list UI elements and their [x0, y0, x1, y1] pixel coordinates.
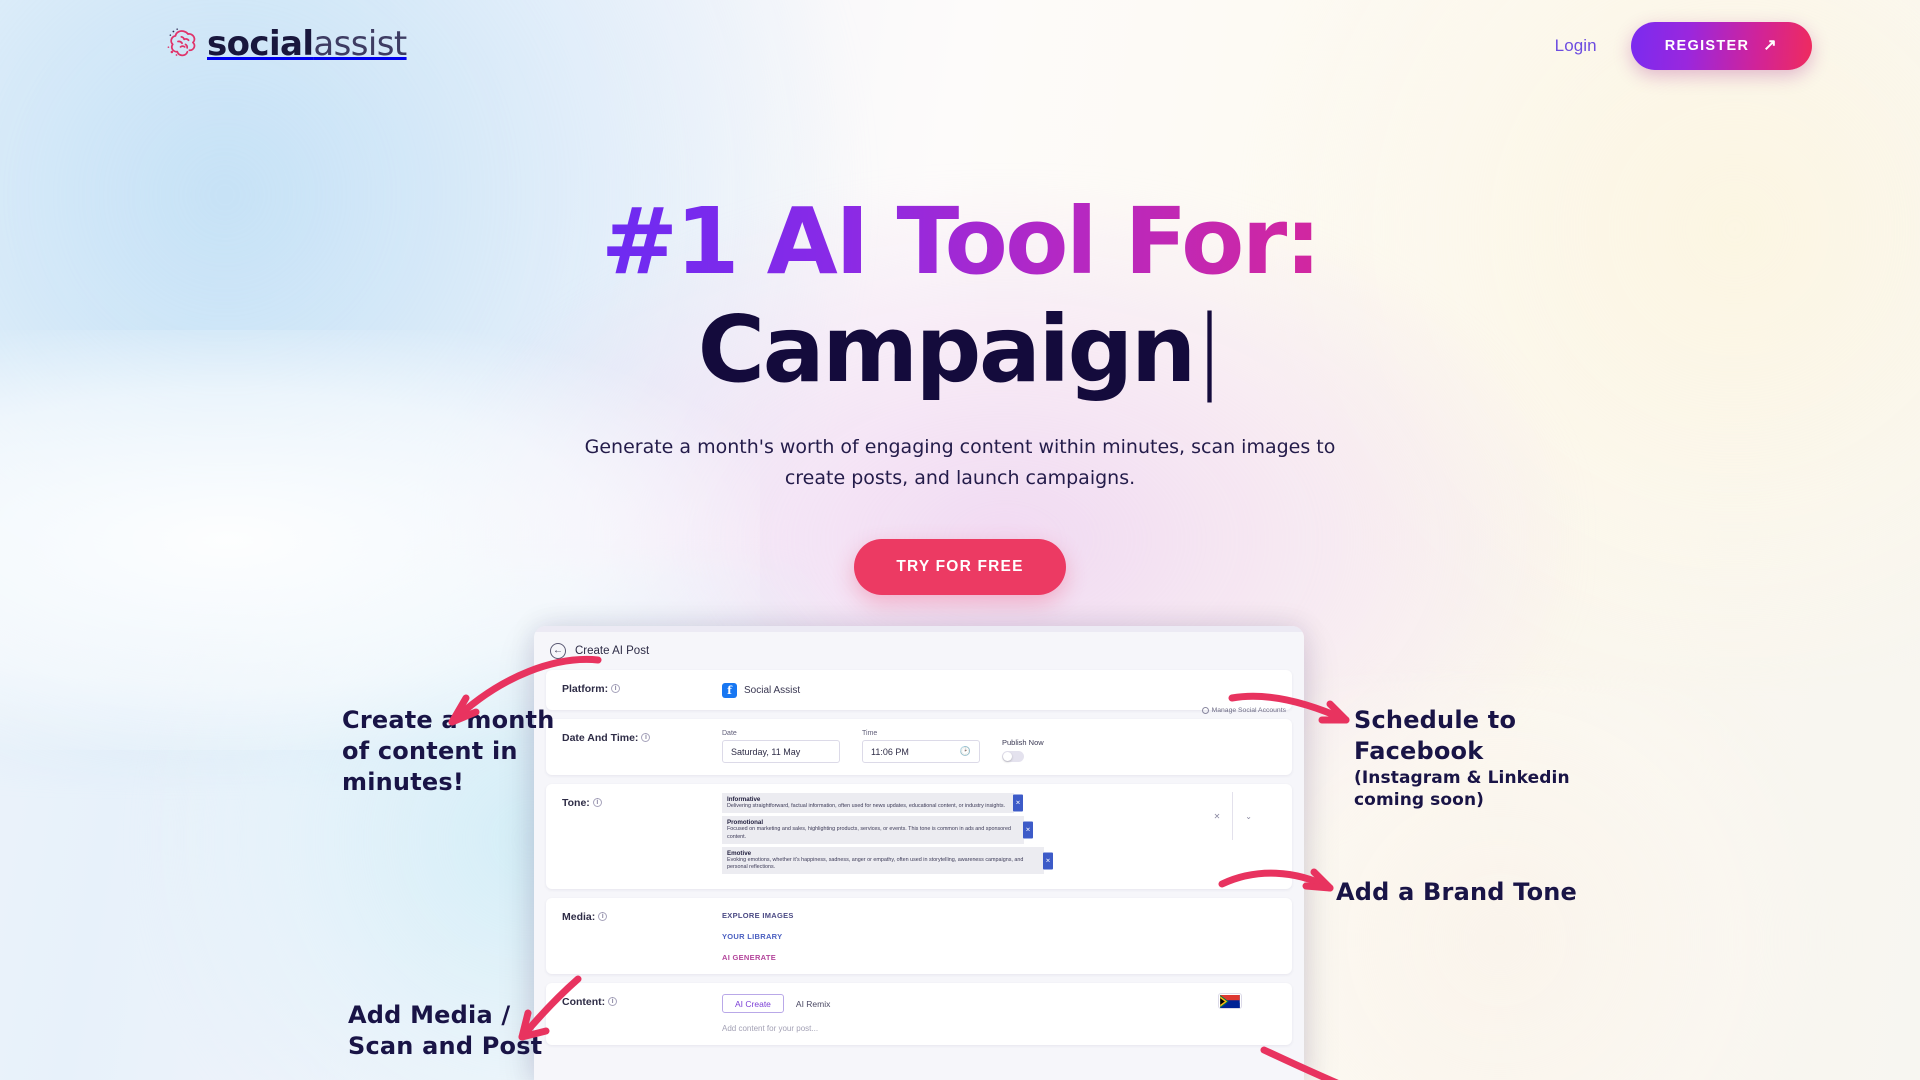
- annotation-create-month: Create a month of content in minutes!: [342, 705, 572, 799]
- date-time-row: Date Saturday, 11 May Time 11:06 PM 🕑: [722, 730, 1278, 763]
- media-label-wrap: Media: i: [546, 898, 722, 974]
- gear-icon: [1202, 707, 1209, 714]
- tone-option[interactable]: Emotive Evoking emotions, whether it's h…: [722, 847, 1044, 875]
- tone-option-description: Delivering straightforward, factual info…: [727, 803, 1009, 810]
- time-field-wrap: Time 11:06 PM 🕑: [862, 730, 980, 763]
- publish-now-label: Publish Now: [1002, 738, 1044, 747]
- ai-generate-link[interactable]: AI GENERATE: [722, 953, 1278, 962]
- close-icon[interactable]: ✕: [1214, 812, 1221, 821]
- tone-option-name: Promotional: [727, 819, 1019, 826]
- content-body: AI Create AI Remix Add content for your …: [722, 983, 1292, 1045]
- try-for-free-button[interactable]: TRY FOR FREE: [854, 539, 1065, 595]
- mockup-header: ← Create AI Post: [534, 632, 1304, 670]
- date-time-body: Date Saturday, 11 May Time 11:06 PM 🕑: [722, 719, 1292, 775]
- clock-icon: 🕑: [960, 746, 971, 757]
- media-body: EXPLORE IMAGES YOUR LIBRARY AI GENERATE: [722, 898, 1292, 974]
- time-input[interactable]: 11:06 PM 🕑: [862, 740, 980, 763]
- date-field-wrap: Date Saturday, 11 May: [722, 730, 840, 763]
- close-icon[interactable]: ✕: [1043, 852, 1053, 869]
- annotation-schedule-facebook-sub2: coming soon): [1354, 789, 1654, 811]
- hero-cta-wrap: TRY FOR FREE: [0, 539, 1920, 595]
- info-icon[interactable]: i: [611, 684, 620, 693]
- divider: [1232, 792, 1233, 840]
- your-library-link[interactable]: YOUR LIBRARY: [722, 932, 1278, 941]
- hero-section: #1 AI Tool For: Campaign| Generate a mon…: [0, 196, 1920, 595]
- date-value: Saturday, 11 May: [731, 747, 800, 757]
- info-icon[interactable]: i: [641, 733, 650, 742]
- manage-social-accounts-link[interactable]: Manage Social Accounts: [1202, 707, 1286, 714]
- register-button-label: REGISTER: [1665, 38, 1750, 54]
- annotation-schedule-facebook-sub1: (Instagram & Linkedin: [1354, 767, 1654, 789]
- tone-option[interactable]: Promotional Focused on marketing and sal…: [722, 816, 1024, 844]
- register-button[interactable]: REGISTER ↗: [1631, 22, 1812, 70]
- publish-now-wrap: Publish Now: [1002, 738, 1044, 763]
- login-link[interactable]: Login: [1555, 36, 1597, 56]
- hero-typed-word: Campaign: [698, 296, 1194, 403]
- facebook-icon: f: [722, 683, 737, 698]
- tone-option-list: Informative Delivering straightforward, …: [722, 793, 1082, 874]
- tone-label: Tone:: [562, 797, 590, 809]
- logo[interactable]: socialassist: [163, 24, 407, 64]
- annotation-schedule-facebook: Schedule to Facebook (Instagram & Linked…: [1354, 705, 1654, 812]
- media-card: Media: i EXPLORE IMAGES YOUR LIBRARY AI …: [546, 898, 1292, 974]
- tone-option-name: Informative: [727, 796, 1009, 803]
- info-icon[interactable]: i: [608, 997, 617, 1006]
- annotation-add-media: Add Media / Scan and Post: [348, 1000, 598, 1062]
- logo-text-light: assist: [313, 24, 406, 64]
- date-time-card: Date And Time: i Date Saturday, 11 May T…: [546, 719, 1292, 775]
- hero-title-line-2: Campaign|: [698, 304, 1223, 396]
- platform-label: Platform:: [562, 683, 608, 695]
- info-icon[interactable]: i: [598, 912, 607, 921]
- arrow-left-circle-icon[interactable]: ←: [550, 643, 566, 659]
- close-icon[interactable]: ✕: [1023, 822, 1033, 839]
- date-field-label: Date: [722, 730, 840, 737]
- site-header: socialassist Login REGISTER ↗: [0, 0, 1920, 98]
- annotation-brand-tone: Add a Brand Tone: [1336, 877, 1616, 908]
- content-card: Content: i AI Create AI Remix Add conten…: [546, 983, 1292, 1045]
- annotation-create-month-line2: of content in: [342, 736, 572, 767]
- tone-option-description: Evoking emotions, whether it's happiness…: [727, 857, 1039, 872]
- publish-now-toggle[interactable]: [1002, 751, 1024, 762]
- time-value: 11:06 PM: [871, 747, 909, 757]
- manage-social-accounts-label: Manage Social Accounts: [1212, 707, 1286, 714]
- platform-card: Platform: i f Social Assist Manage Socia…: [546, 670, 1292, 710]
- info-icon[interactable]: i: [593, 798, 602, 807]
- annotation-brand-tone-text: Add a Brand Tone: [1336, 877, 1616, 908]
- south-africa-flag-icon[interactable]: [1218, 993, 1242, 1009]
- tone-option[interactable]: Informative Delivering straightforward, …: [722, 793, 1014, 813]
- page-title: #1 AI Tool For: Campaign|: [0, 196, 1920, 396]
- text-cursor: |: [1194, 296, 1223, 403]
- tone-option-name: Emotive: [727, 850, 1039, 857]
- brain-icon: [163, 24, 203, 64]
- date-time-label-wrap: Date And Time: i: [546, 719, 722, 775]
- annotation-add-media-line1: Add Media /: [348, 1000, 598, 1031]
- annotation-add-media-line2: Scan and Post: [348, 1031, 598, 1062]
- tone-option-description: Focused on marketing and sales, highligh…: [727, 826, 1019, 841]
- mockup-title: Create AI Post: [575, 645, 649, 657]
- annotation-create-month-line1: Create a month: [342, 705, 572, 736]
- explore-images-link[interactable]: EXPLORE IMAGES: [722, 911, 1278, 920]
- arrow-up-right-icon: ↗: [1763, 38, 1778, 54]
- media-link-list: EXPLORE IMAGES YOUR LIBRARY AI GENERATE: [722, 909, 1278, 962]
- app-mockup: ← Create AI Post Platform: i f Social As…: [534, 626, 1304, 1080]
- platform-label-wrap: Platform: i: [546, 670, 722, 710]
- hero-subtitle: Generate a month's worth of engaging con…: [565, 432, 1355, 495]
- platform-account-name: Social Assist: [744, 685, 800, 696]
- tone-field-controls: ✕ ⌄: [1214, 792, 1252, 840]
- content-input-placeholder[interactable]: Add content for your post...: [722, 1024, 1278, 1033]
- close-icon[interactable]: ✕: [1013, 795, 1023, 812]
- tab-ai-create[interactable]: AI Create: [722, 994, 784, 1013]
- time-field-label: Time: [862, 730, 980, 737]
- chevron-down-icon[interactable]: ⌄: [1245, 812, 1252, 821]
- logo-text-bold: social: [207, 24, 313, 64]
- tone-label-wrap: Tone: i: [546, 784, 722, 889]
- platform-account[interactable]: f Social Assist: [722, 681, 1278, 698]
- media-label: Media:: [562, 911, 595, 923]
- platform-body: f Social Assist Manage Social Accounts: [722, 670, 1292, 710]
- content-tabs: AI Create AI Remix: [722, 994, 1278, 1013]
- tone-card: Tone: i Informative Delivering straightf…: [546, 784, 1292, 889]
- annotation-create-month-line3: minutes!: [342, 767, 572, 798]
- header-nav: Login REGISTER ↗: [1555, 22, 1812, 70]
- annotation-schedule-facebook-title: Schedule to Facebook: [1354, 705, 1654, 767]
- tone-body: Informative Delivering straightforward, …: [722, 784, 1292, 889]
- hero-title-line-1: #1 AI Tool For:: [601, 196, 1319, 288]
- date-input[interactable]: Saturday, 11 May: [722, 740, 840, 763]
- tab-ai-remix[interactable]: AI Remix: [784, 994, 842, 1013]
- date-time-label: Date And Time:: [562, 732, 638, 744]
